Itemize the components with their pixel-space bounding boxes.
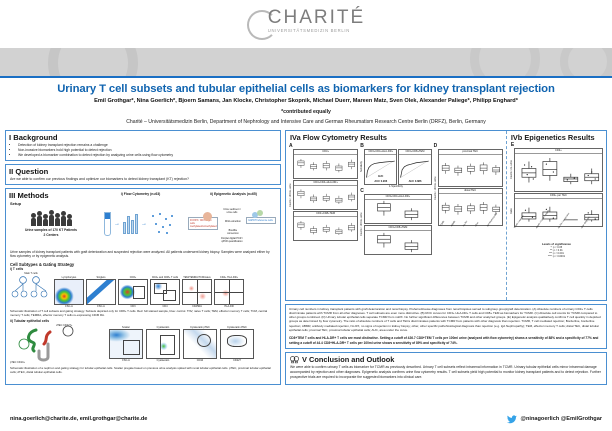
charite-logo: CHARITÉ UNIVERSITÄTSMEDIZIN BERLIN (247, 8, 365, 40)
twitter-bird-icon (507, 415, 517, 424)
cell-icon (203, 212, 212, 221)
logo-wordmark: CHARITÉ (268, 8, 365, 27)
cell-cluster-icon (252, 210, 264, 219)
methods-col2-title: ii) Epigenetic Analysis (n=65) (187, 192, 280, 196)
boxplot-svg (515, 154, 602, 190)
page-title: Urinary T cell subsets and tubular epith… (12, 83, 600, 95)
author-list: Emil Grothgar*, Nina Goerlich*, Bjoern S… (12, 98, 600, 106)
left-column: I Background Detection of kidney transpl… (5, 130, 281, 385)
boxplot-svg (439, 155, 502, 185)
panelB-yaxis: Sensitivity (360, 149, 363, 185)
gating-row-tcells: Main T cells Lymphocytes (10, 272, 276, 308)
plot-xaxis: FSC-A (109, 359, 143, 362)
right-column: IVa Flow Cytometry Results A Counts / 10… (285, 130, 607, 385)
roc-svg (399, 155, 430, 183)
gating-plot: CD4+ and CD8+ T cells CD4 (150, 276, 180, 308)
panelD-yaxis: Counts / 100 mL urine (434, 149, 437, 228)
gating-row-tec: pTEC CD10+ dTEC CD227+ Scatter FSC-A Cyt… (10, 323, 276, 365)
panelA-yaxis: Counts / 100 mL urine (289, 149, 292, 241)
epi-step-label: Urine sediment / urine cells (220, 207, 245, 215)
cytometer-icon (123, 214, 138, 234)
gating-subtitle-tcells: i) T cells (10, 267, 276, 271)
gating-plot: Cytokeratin Cytokeratin (146, 326, 180, 362)
methods-setup-caption: Urine samples of 170 KT Patients 2 Cente… (10, 228, 92, 237)
conclusion-text: We were able to confirm urinary T cells … (286, 365, 606, 383)
nephron-schematic: pTEC CD10+ dTEC CD227+ (10, 324, 106, 364)
section-results: IVa Flow Cytometry Results A Counts / 10… (285, 130, 607, 301)
chart-cd8-tem: CD3+CD8+TEM (293, 211, 358, 241)
chart-proximal-tec: proximal TEC (438, 149, 503, 187)
chart-cd3: CD3+ (293, 149, 358, 179)
arrow-right-icon: → (141, 221, 147, 227)
tcell-subset-schematic: Main T cells (10, 272, 52, 308)
section-question: II Question Are we able to confirm our p… (5, 164, 281, 185)
plot-xaxis: Cytokeratin (146, 359, 180, 362)
gating-plot: Scatter FSC-A (109, 326, 143, 362)
results-flow-cytometry: IVa Flow Cytometry Results A Counts / 10… (286, 131, 507, 300)
plot-xaxis: CD4 (150, 305, 180, 308)
question-heading: II Question (6, 165, 280, 177)
chart-c-1: CD3+CD4+HLA-DR+ (364, 194, 431, 224)
plot-xaxis: FSC-A (54, 305, 84, 308)
equal-contribution-note: *contributed equally (12, 109, 600, 115)
plot-xaxis: HLA-DR (214, 305, 244, 308)
lightbulb-icon (290, 355, 299, 364)
methods-heading: III Methods (6, 189, 94, 201)
chart-c-2: CD3+CD8+TEM (364, 225, 431, 255)
nephron-label-ptec: pTEC CD10+ (10, 361, 25, 364)
band-arc-right (470, 48, 540, 76)
gating-plot: Singlets FSC-A (86, 276, 116, 308)
epigenetics-diagram: Urine sediment / urine cells DNA extract… (188, 207, 276, 247)
panel-D: D Counts / 100 mL urine proximal TEC (434, 143, 503, 300)
boxplot-svg (365, 200, 430, 222)
affiliation: Charité – Universitätsmedizin Berlin, De… (12, 119, 600, 125)
plot-xaxis: CD45RA (182, 305, 212, 308)
panel-A: A Counts / 100 mL urine CD3+ (289, 143, 358, 300)
methods-col1-title: i) Flow Cytometry (n=63) (94, 192, 187, 196)
plot-xaxis: CD3 (118, 305, 148, 308)
arrow-right-icon: → (114, 221, 120, 227)
significance-legend: Levels of significance *: p < 0.05 **: p… (507, 242, 606, 258)
background-bullet-list: Detection of kidney transplant rejection… (6, 143, 280, 160)
epi-chart2-yaxis: Ratio (510, 193, 513, 230)
section-methods: III Methods Setup i) Flow Cytometry (n=6… (5, 188, 281, 385)
charite-logo-area: CHARITÉ UNIVERSITÄTSMEDIZIN BERLIN (0, 0, 612, 48)
epi-chart1-yaxis: Counts / mL urine (510, 148, 513, 192)
epi-step-label: Bisulfite conversion (223, 228, 242, 236)
poster-columns: I Background Detection of kidney transpl… (0, 127, 612, 385)
boxplot-svg (365, 231, 430, 253)
chart-cd4-hladr: CD3+CD4+HLA-DR+ (293, 180, 358, 210)
gating-caption-tec: Schematic illustration of a nephron and … (10, 365, 276, 376)
results-caption-text: Urinary cell numbers in kidney transplan… (286, 305, 606, 334)
gating-plot: TEM/TEMRA/TCM/naive CD45RA (182, 276, 212, 308)
question-text: Are we able to confirm our previous find… (6, 177, 280, 184)
gating-plot: CD4+ HLA-DR+ HLA-DR (214, 276, 244, 308)
band-arc-left (48, 48, 138, 76)
boxplot-svg (294, 217, 357, 239)
header-graphic-band (0, 48, 612, 76)
title-block: Urinary T cell subsets and tubular epith… (0, 78, 612, 127)
auc-label-1: AUC (378, 174, 384, 177)
methods-text: Urine samples of kidney transplant patie… (6, 249, 280, 261)
epi-step-label: Droplet digital PCR / qPCR quantificatio… (220, 236, 245, 244)
conclusion-heading-row: V Conclusion and Outlook (286, 353, 606, 365)
epi-chart-cd3: CD3+ (514, 148, 603, 192)
subset-tree-icon (10, 275, 52, 303)
contact-emails[interactable]: nina.goerlich@charite.de, emil.grothgar@… (10, 416, 147, 422)
gating-plot: Cytokeratin pTEC CD10 (183, 326, 217, 362)
plot-xaxis: CD10 (183, 359, 217, 362)
urine-tube-icon (104, 212, 111, 236)
nephron-icon (10, 324, 106, 364)
flow-cytometry-diagram: → → (96, 207, 184, 247)
results-cutoff-text: CD8+TEM T cells and HLA-DR+ T cells are … (286, 334, 606, 348)
section-results-caption: Urinary cell numbers in kidney transplan… (285, 304, 607, 349)
boxplot-svg (294, 155, 357, 177)
roc-svg: AUC (365, 155, 396, 183)
gating-plot: Lymphocytes FSC-A (54, 276, 84, 308)
band-arc-far-right (560, 48, 612, 76)
results-epi-heading: IVb Epigenetics Results (507, 131, 606, 142)
results-flow-heading: IVa Flow Cytometry Results (286, 131, 506, 142)
section-conclusion: V Conclusion and Outlook We were able to… (285, 352, 607, 384)
plot-xaxis: FSC-A (86, 305, 116, 308)
list-item: We developed a biomarker combination to … (18, 153, 280, 158)
panel-BC: B Sensitivity CD3+CD4+HLA-DR+ AUC (360, 143, 431, 300)
gating-caption-tcells: Schematic illustration of T cell subsets… (10, 308, 276, 319)
boxplot-svg (294, 186, 357, 208)
social-handles[interactable]: @ninagoerlich @EmilGrothgar (521, 416, 602, 422)
significance-item: ****: p < 0.0001 (507, 255, 606, 258)
plot-xaxis: CD227 (220, 359, 254, 362)
methods-setup-graphic: Urine samples of 170 KT Patients 2 Cente… (10, 207, 92, 247)
roc-curve-cd4-hladr: CD3+CD4+HLA-DR+ AUC AUC 0.906 (364, 149, 397, 185)
gating-strategy-block: Cell Subtypes & Gating Strategy i) T cel… (6, 261, 280, 378)
cell-scatter-icon (150, 211, 176, 237)
patient-cohort-icon (10, 210, 92, 227)
logo-subtitle: UNIVERSITÄTSMEDIZIN BERLIN (268, 29, 365, 33)
section-background: I Background Detection of kidney transpl… (5, 130, 281, 161)
nephron-label-dtec: dTEC CD227+ (56, 324, 72, 327)
social-handles-row: @ninagoerlich @EmilGrothgar (507, 415, 602, 424)
footer: nina.goerlich@charite.de, emil.grothgar@… (0, 407, 612, 431)
roc-curve-cd8-tem: CD3+CD8+TEM AUC 0.886 (398, 149, 431, 185)
gating-plot: Cytokeratin dTEC CD227 (220, 326, 254, 362)
epi-step-label: DNA extraction (223, 219, 242, 224)
conclusion-heading: V Conclusion and Outlook (302, 355, 394, 364)
results-epigenetics: IVb Epigenetics Results E Counts / mL ur… (507, 131, 606, 300)
gating-plot: CD3+ CD3 (118, 276, 148, 308)
panelC-yaxis: Counts / 100 mL urine (360, 194, 363, 255)
background-heading: I Background (6, 131, 280, 143)
methods-diagrams: Urine samples of 170 KT Patients 2 Cente… (6, 206, 280, 249)
